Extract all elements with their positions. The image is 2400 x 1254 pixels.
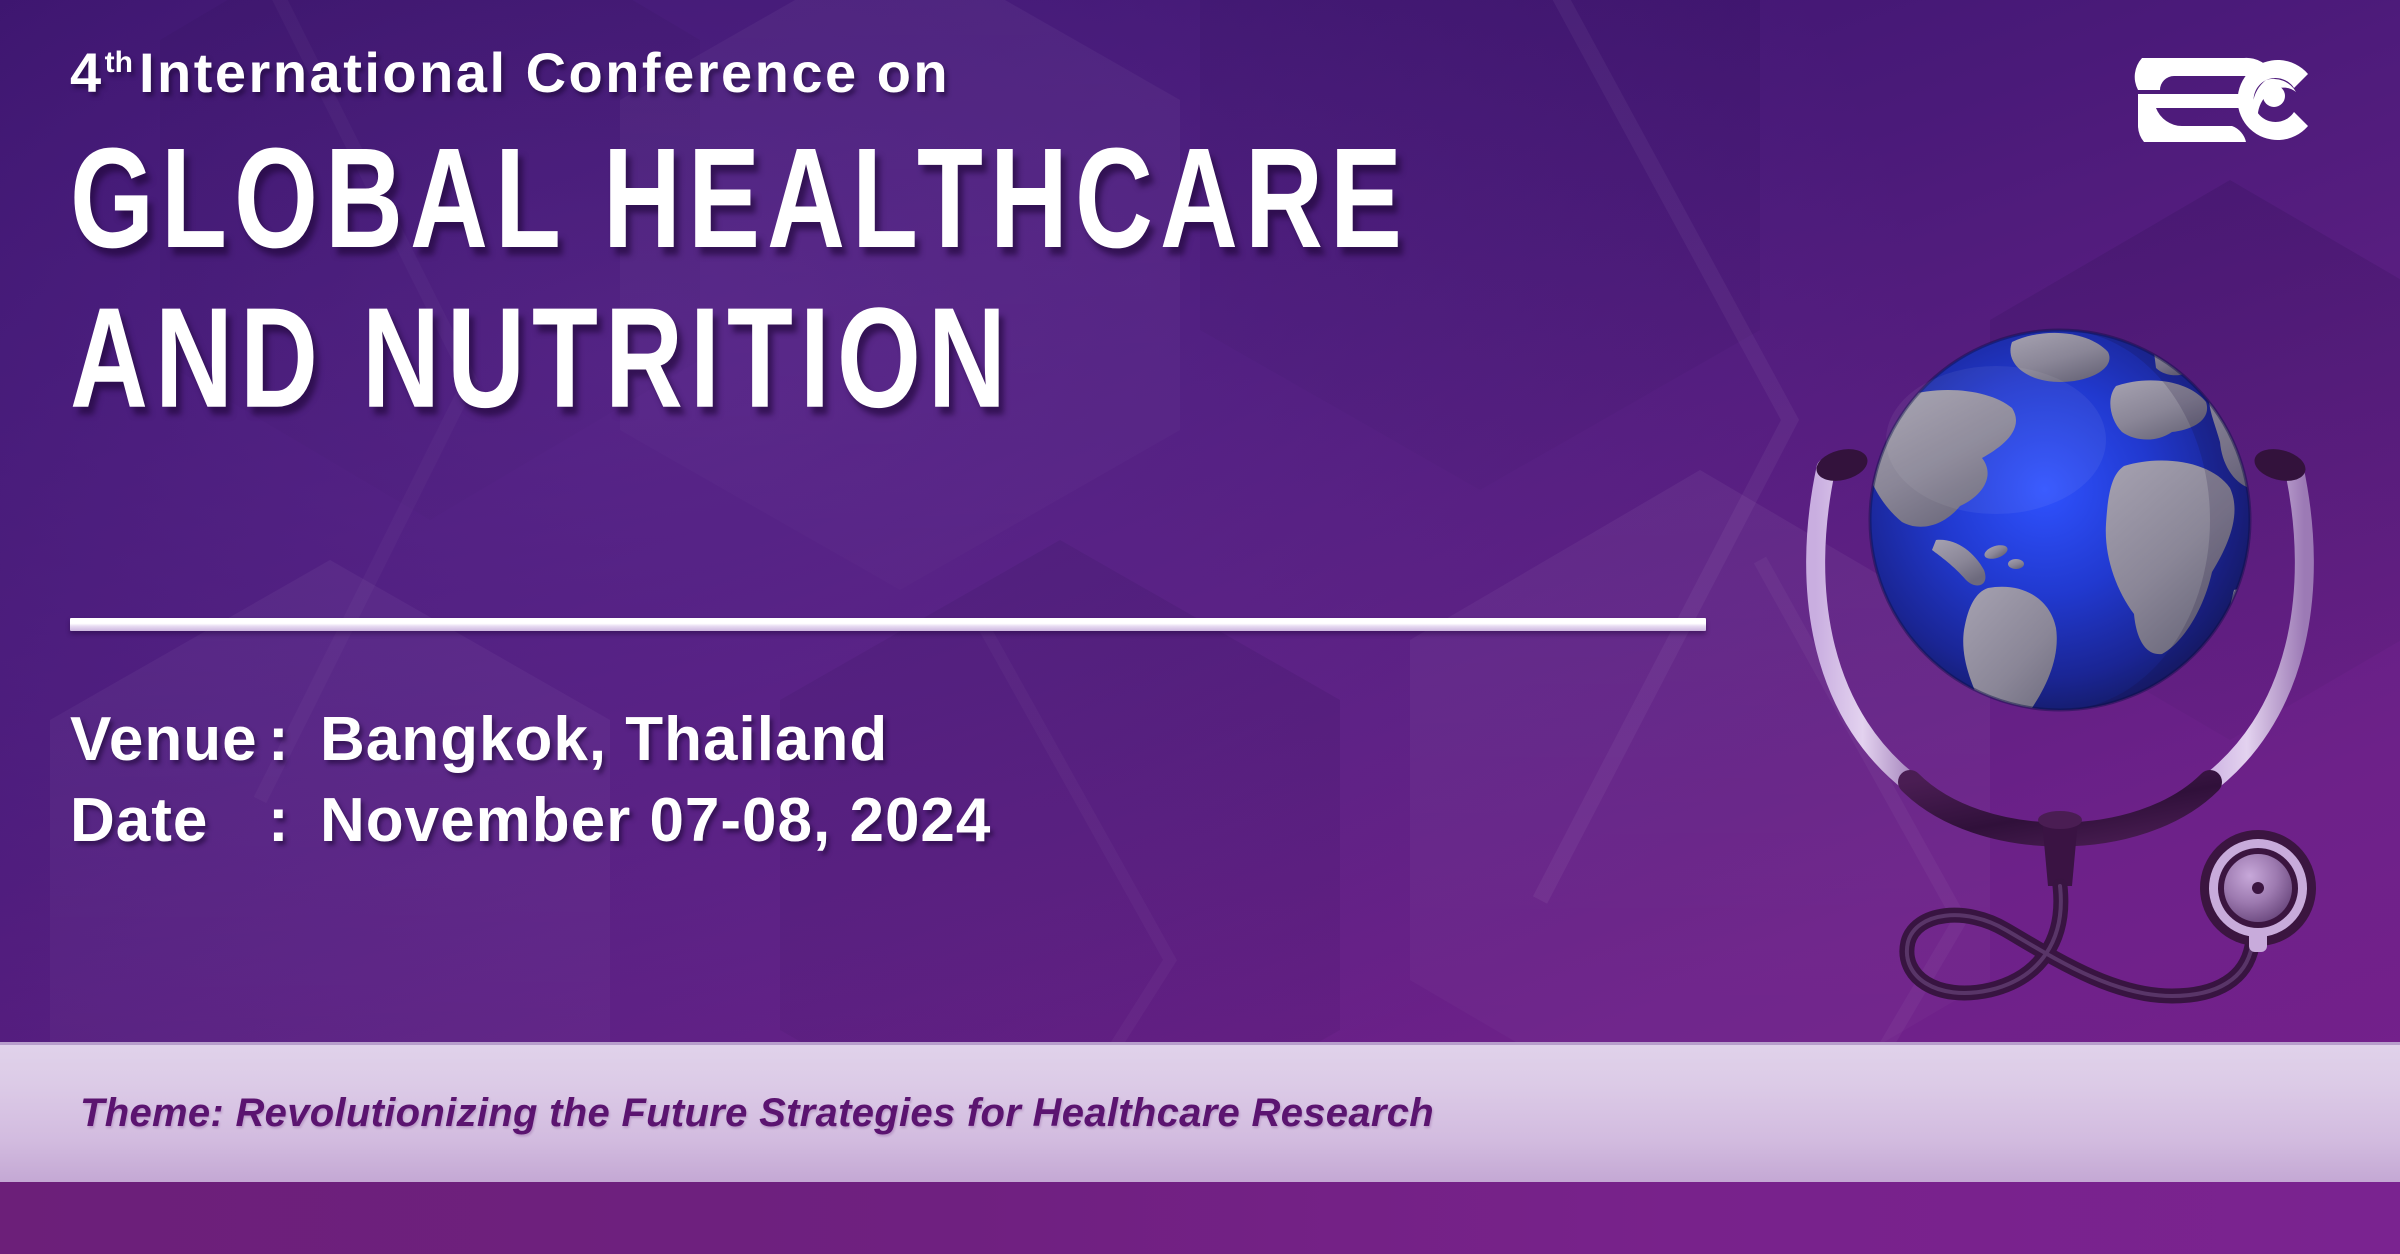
pretitle: 4thInternational Conference on [70, 44, 1820, 103]
bottom-strip [0, 1182, 2400, 1254]
title-line-2: AND NUTRITION [70, 278, 1820, 438]
detail-row-date: Date : November 07-08, 2024 [70, 781, 991, 862]
headline-block: 4thInternational Conference on GLOBAL HE… [70, 0, 1820, 361]
date-colon: : [268, 781, 320, 862]
title-line-1: GLOBAL HEALTHCARE [70, 119, 1820, 279]
venue-colon: : [268, 700, 320, 781]
date-value: November 07-08, 2024 [320, 781, 991, 862]
event-details: Venue : Bangkok, Thailand Date : Novembe… [70, 700, 991, 861]
venue-value: Bangkok, Thailand [320, 700, 888, 781]
conference-title: GLOBAL HEALTHCARE AND NUTRITION [70, 119, 1820, 438]
horizontal-divider [70, 618, 1706, 631]
conference-banner: 4thInternational Conference on GLOBAL HE… [0, 0, 2400, 1254]
organization-logo[interactable] [2116, 40, 2316, 144]
detail-row-venue: Venue : Bangkok, Thailand [70, 700, 991, 781]
theme-text: Theme: Revolutionizing the Future Strate… [80, 1091, 1434, 1136]
globe-stethoscope-illustration [1760, 290, 2380, 1030]
theme-bar: Theme: Revolutionizing the Future Strate… [0, 1042, 2400, 1182]
venue-label: Venue [70, 700, 268, 781]
conference-ordinal-suffix: th [105, 46, 133, 79]
date-label: Date [70, 781, 268, 862]
pretitle-text: International Conference on [139, 41, 950, 104]
conference-ordinal: 4 [70, 41, 104, 104]
